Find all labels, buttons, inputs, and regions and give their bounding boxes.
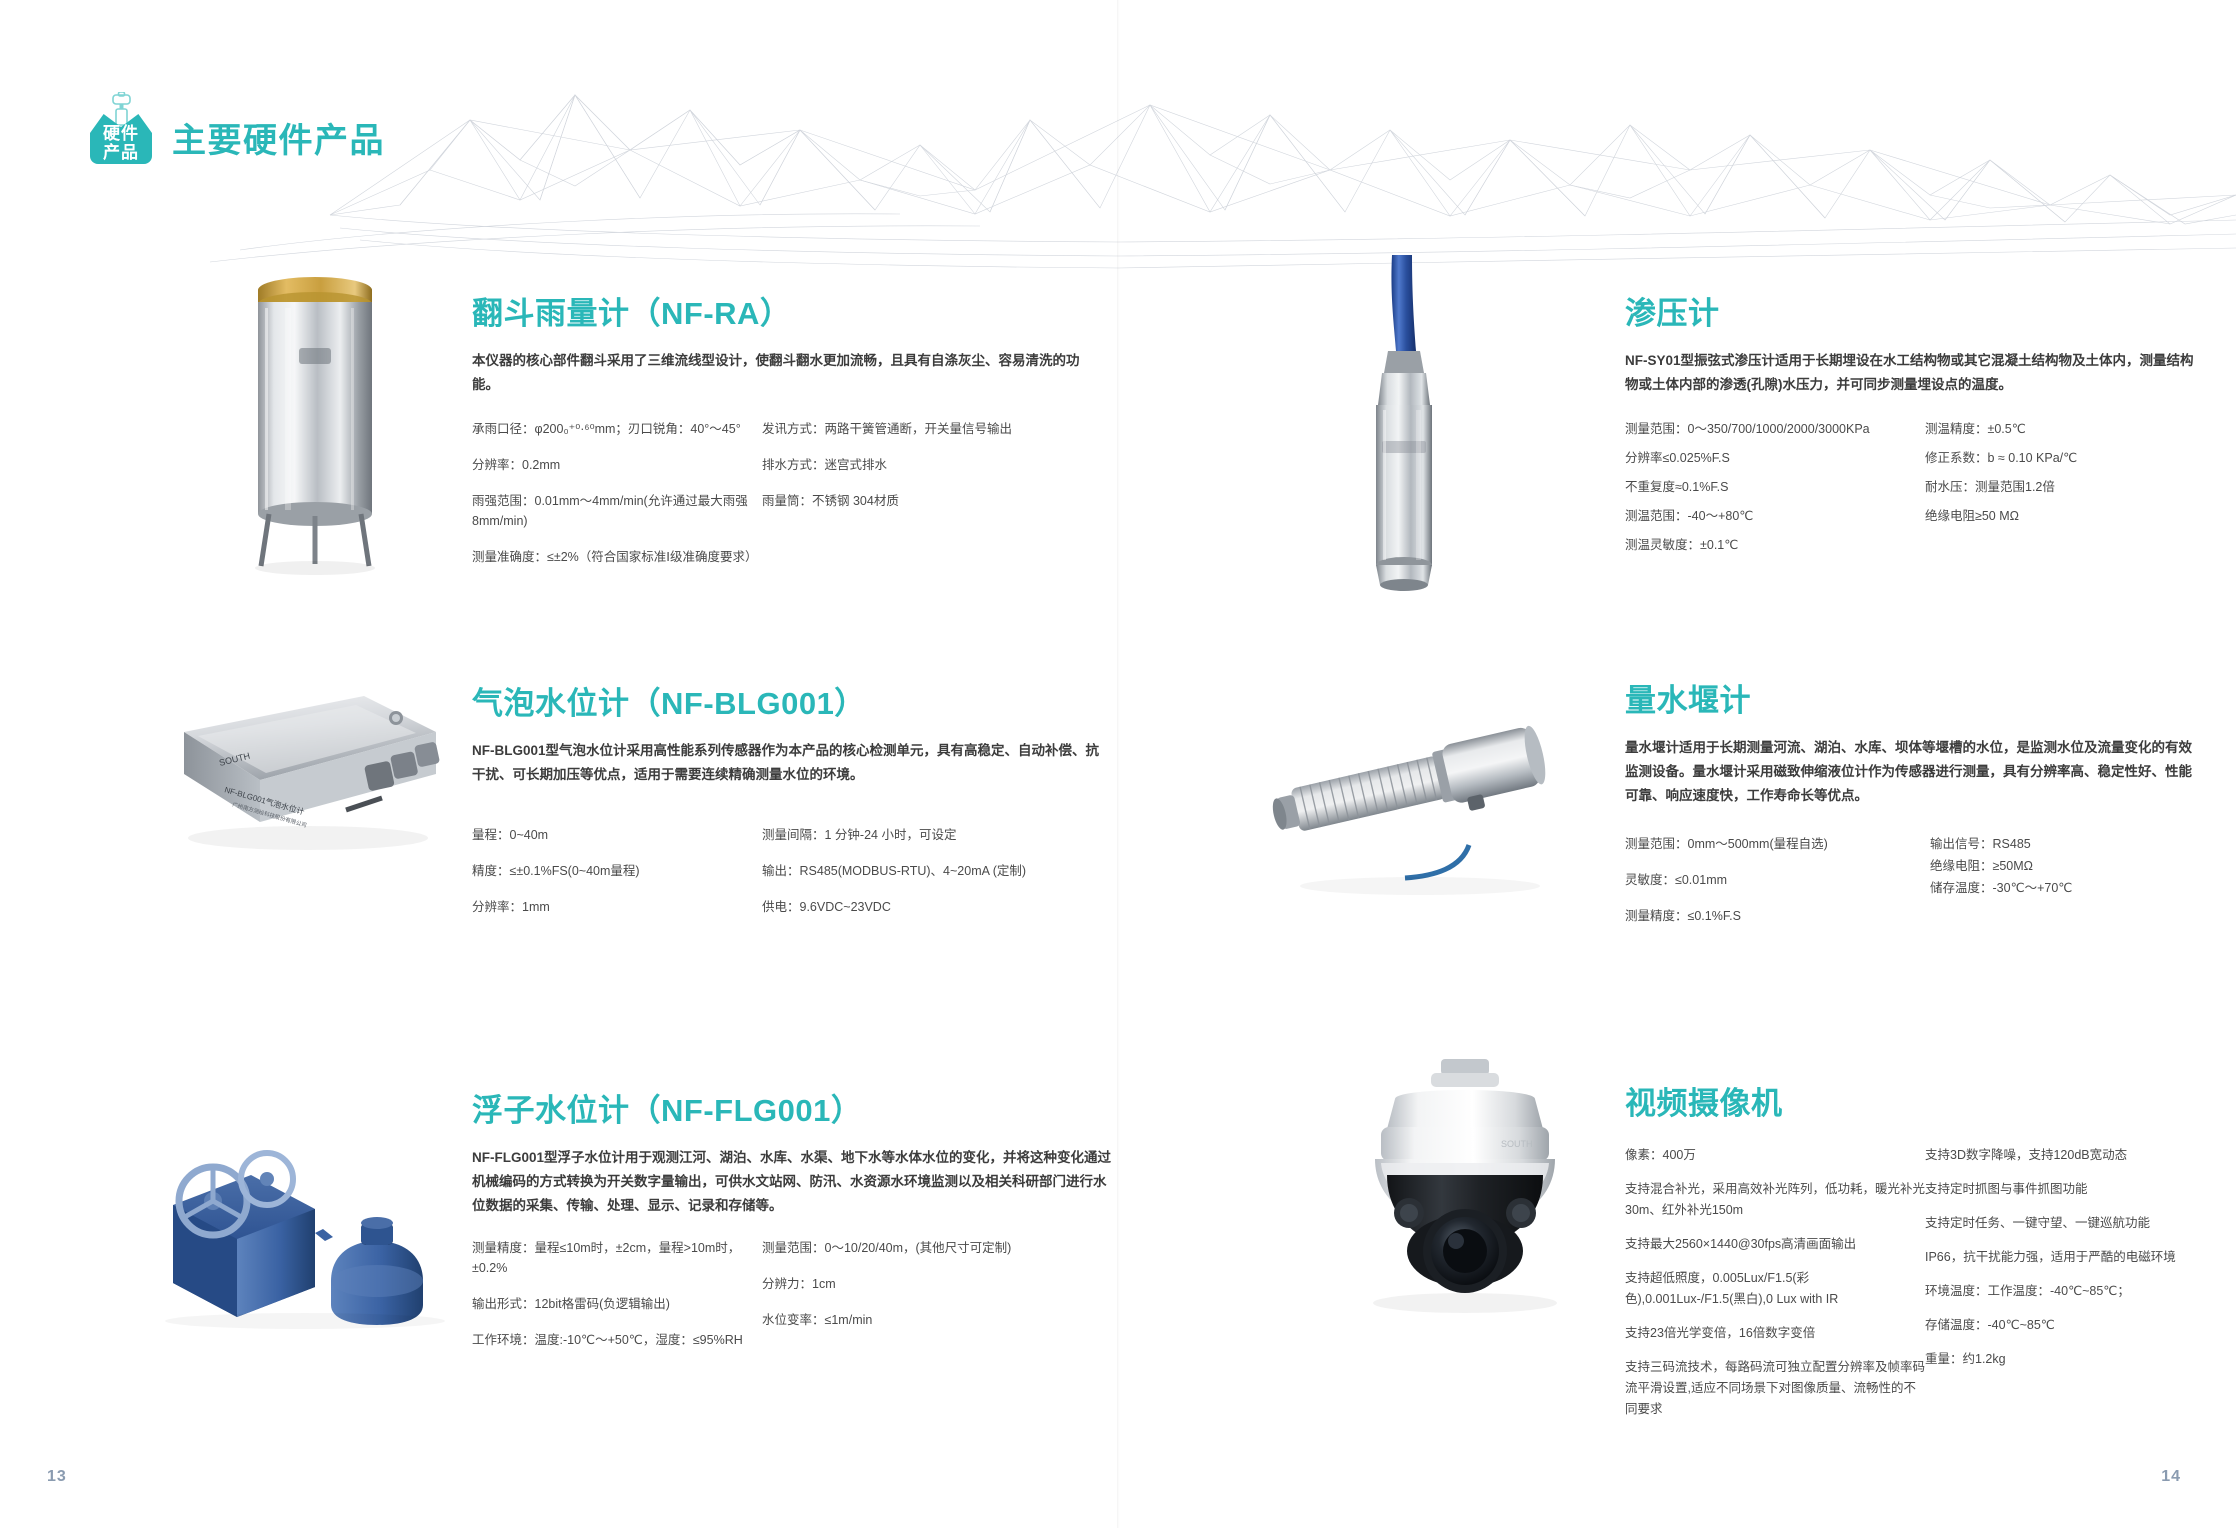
spec-item: 支持三码流技术，每路码流可独立配置分辨率及帧率码流平滑设置,适应不同场景下对图像…	[1625, 1357, 1925, 1420]
spec-column-left: 量程：0~40m 精度：≤±0.1%FS(0~40m量程) 分辨率：1mm	[472, 825, 762, 933]
spec-item: 测量范围：0～10/20/40m，(其他尺寸可定制)	[762, 1238, 1092, 1258]
spec-item: 测量范围：0～350/700/1000/2000/3000KPa	[1625, 419, 1925, 439]
catalog-spread: 硬件产品 主要硬件产品	[0, 0, 2236, 1528]
spec-item: 排水方式：迷宫式排水	[762, 455, 1062, 475]
spec-column-left: 测量精度：量程≤10m时，±2cm，量程>10m时，±0.2% 输出形式：12b…	[472, 1238, 762, 1366]
spec-column-right: 发讯方式：两路干簧管通断，开关量信号输出 排水方式：迷宫式排水 雨量筒：不锈钢 …	[762, 419, 1062, 583]
spec-item: 发讯方式：两路干簧管通断，开关量信号输出	[762, 419, 1062, 439]
vibrating-wire-piezometer-photo	[1320, 255, 1490, 595]
spec-item: 水位变率：≤1m/min	[762, 1310, 1092, 1330]
spec-item: 测量范围：0mm～500mm(量程自选)	[1625, 834, 1930, 854]
spec-item: 支持混合补光，采用高效补光阵列，低功耗，暖光补光30m、红外补光150m	[1625, 1179, 1925, 1221]
spec-item: 支持3D数字降噪，支持120dB宽动态	[1925, 1145, 2205, 1166]
spec-item: 测温灵敏度：±0.1℃	[1625, 535, 1925, 555]
spec-item: 重量：约1.2kg	[1925, 1349, 2205, 1370]
product-description: NF-SY01型振弦式渗压计适用于长期埋设在水工结构物或其它混凝土结构物及土体内…	[1625, 349, 2195, 397]
product-video-camera: 视频摄像机 像素：400万 支持混合补光，采用高效补光阵列，低功耗，暖光补光30…	[1625, 1085, 2205, 1433]
spec-item: 量程：0~40m	[472, 825, 762, 845]
spec-item: 雨量筒：不锈钢 304材质	[762, 491, 1062, 511]
spec-item: 测温精度：±0.5℃	[1925, 419, 2195, 439]
product-title: 视频摄像机	[1625, 1085, 2205, 1123]
spec-item: 输出：RS485(MODBUS-RTU)、4~20mA (定制)	[762, 861, 1092, 881]
spec-item: 支持定时任务、一键守望、一键巡航功能	[1925, 1213, 2205, 1234]
spec-item: 像素：400万	[1625, 1145, 1925, 1166]
spec-item: 支持最大2560×1440@30fps高清画面输出	[1625, 1234, 1925, 1255]
spec-item: 环境温度：工作温度：-40℃~85℃；	[1925, 1281, 2205, 1302]
spec-item: 不重复度≈0.1%F.S	[1625, 477, 1925, 497]
spec-column-left: 像素：400万 支持混合补光，采用高效补光阵列，低功耗，暖光补光30m、红外补光…	[1625, 1145, 1925, 1433]
spec-item: 输出信号：RS485	[1930, 834, 2190, 854]
spec-column-right: 支持3D数字降噪，支持120dB宽动态 支持定时抓图与事件抓图功能 支持定时任务…	[1925, 1145, 2205, 1433]
spec-item: 绝缘电阻：≥50MΩ	[1930, 856, 2190, 876]
product-title: 渗压计	[1625, 295, 2195, 333]
product-title: 气泡水位计（NF-BLG001）	[472, 685, 1112, 723]
spec-column-left: 测量范围：0mm～500mm(量程自选) 灵敏度：≤0.01mm 测量精度：≤0…	[1625, 834, 1930, 942]
spec-item: 承雨口径：φ200₀⁺⁰·⁶⁰mm；刃口锐角：40°～45°	[472, 419, 762, 439]
product-rain-gauge: 翻斗雨量计（NF-RA） 本仪器的核心部件翻斗采用了三维流线型设计，使翻斗翻水更…	[472, 295, 1082, 583]
spec-item: 测量准确度：≤±2%（符合国家标准Ⅰ级准确度要求）	[472, 547, 762, 567]
spec-item: 输出形式：12bit格雷码(负逻辑输出)	[472, 1294, 762, 1314]
page-number-right: 14	[2161, 1468, 2181, 1486]
float-water-level-gauge-photo	[155, 1105, 475, 1330]
spec-item: 分辨率：0.2mm	[472, 455, 762, 475]
product-description: 量水堰计适用于长期测量河流、湖泊、水库、坝体等堰槽的水位，是监测水位及流量变化的…	[1625, 736, 2200, 808]
tipping-bucket-rain-gauge-photo	[225, 248, 405, 578]
spec-item: 雨强范围：0.01mm～4mm/min(允许通过最大雨强8mm/min)	[472, 491, 762, 531]
spec-item: IP66，抗干扰能力强，适用于严酷的电磁环境	[1925, 1247, 2205, 1268]
page-number-left: 13	[47, 1468, 67, 1486]
spec-item: 测量间隔：1 分钟-24 小时，可设定	[762, 825, 1092, 845]
spec-item: 修正系数：b ≈ 0.10 KPa/℃	[1925, 448, 2195, 468]
svg-text:SOUTH: SOUTH	[1501, 1139, 1533, 1149]
spec-item: 分辨率≤0.025%F.S	[1625, 448, 1925, 468]
rain-gauge-icon	[112, 92, 131, 126]
spec-item: 精度：≤±0.1%FS(0~40m量程)	[472, 861, 762, 881]
product-title: 量水堰计	[1625, 682, 2200, 720]
product-weir-gauge: 量水堰计 量水堰计适用于长期测量河流、湖泊、水库、坝体等堰槽的水位，是监测水位及…	[1625, 682, 2200, 942]
magnetostrictive-weir-gauge-photo	[1255, 690, 1585, 900]
spec-item: 储存温度：-30℃～+70℃	[1930, 878, 2190, 898]
spec-item: 测量精度：≤0.1%F.S	[1625, 906, 1930, 926]
spec-column-right: 测量范围：0～10/20/40m，(其他尺寸可定制) 分辨力：1cm 水位变率：…	[762, 1238, 1092, 1366]
spec-item: 支持超低照度，0.005Lux/F1.5(彩色),0.001Lux-/F1.5(…	[1625, 1268, 1925, 1310]
spec-item: 耐水压：测量范围1.2倍	[1925, 477, 2195, 497]
spec-item: 灵敏度：≤0.01mm	[1625, 870, 1930, 890]
hardware-products-badge: 硬件产品	[90, 92, 152, 164]
spec-column-left: 承雨口径：φ200₀⁺⁰·⁶⁰mm；刃口锐角：40°～45° 分辨率：0.2mm…	[472, 419, 762, 583]
product-bubble-water-level: 气泡水位计（NF-BLG001） NF-BLG001型气泡水位计采用高性能系列传…	[472, 685, 1112, 933]
bubble-water-level-gauge-photo: SOUTH NF-BLG001气泡水位计 广州南方测绘科技股份有限公司	[168, 670, 448, 870]
spec-item: 供电：9.6VDC~23VDC	[762, 897, 1092, 917]
product-title: 翻斗雨量计（NF-RA）	[472, 295, 1082, 333]
product-title: 浮子水位计（NF-FLG001）	[472, 1092, 1112, 1130]
spec-column-right: 测温精度：±0.5℃ 修正系数：b ≈ 0.10 KPa/℃ 耐水压：测量范围1…	[1925, 419, 2195, 564]
spec-column-right: 测量间隔：1 分钟-24 小时，可设定 输出：RS485(MODBUS-RTU)…	[762, 825, 1092, 933]
spec-item: 支持23倍光学变倍，16倍数字变倍	[1625, 1323, 1925, 1344]
section-header: 硬件产品 主要硬件产品	[90, 92, 385, 164]
spec-item: 存储温度：-40℃~85℃	[1925, 1315, 2205, 1336]
product-float-water-level: 浮子水位计（NF-FLG001） NF-FLG001型浮子水位计用于观测江河、湖…	[472, 1092, 1112, 1366]
badge-label: 硬件产品	[90, 124, 152, 162]
product-piezometer: 渗压计 NF-SY01型振弦式渗压计适用于长期埋设在水工结构物或其它混凝土结构物…	[1625, 295, 2195, 564]
spec-item: 工作环境：温度:-10℃～+50℃，湿度：≤95%RH	[472, 1330, 762, 1350]
ptz-dome-camera-photo: SOUTH	[1335, 1055, 1595, 1345]
book-spine-gutter	[1117, 0, 1120, 1528]
page-title: 主要硬件产品	[172, 121, 385, 164]
spec-column-left: 测量范围：0～350/700/1000/2000/3000KPa 分辨率≤0.0…	[1625, 419, 1925, 564]
spec-item: 绝缘电阻≥50 MΩ	[1925, 506, 2195, 526]
spec-column-right: 输出信号：RS485 绝缘电阻：≥50MΩ 储存温度：-30℃～+70℃	[1930, 834, 2190, 942]
spec-item: 测温范围：-40～+80℃	[1625, 506, 1925, 526]
product-description: 本仪器的核心部件翻斗采用了三维流线型设计，使翻斗翻水更加流畅，且具有自涤灰尘、容…	[472, 349, 1082, 397]
spec-item: 测量精度：量程≤10m时，±2cm，量程>10m时，±0.2%	[472, 1238, 762, 1278]
spec-item: 分辨率：1mm	[472, 897, 762, 917]
spec-item: 支持定时抓图与事件抓图功能	[1925, 1179, 2205, 1200]
product-description: NF-FLG001型浮子水位计用于观测江河、湖泊、水库、水渠、地下水等水体水位的…	[472, 1146, 1112, 1218]
spec-item: 分辨力：1cm	[762, 1274, 1092, 1294]
product-description: NF-BLG001型气泡水位计采用高性能系列传感器作为本产品的核心检测单元，具有…	[472, 739, 1112, 787]
